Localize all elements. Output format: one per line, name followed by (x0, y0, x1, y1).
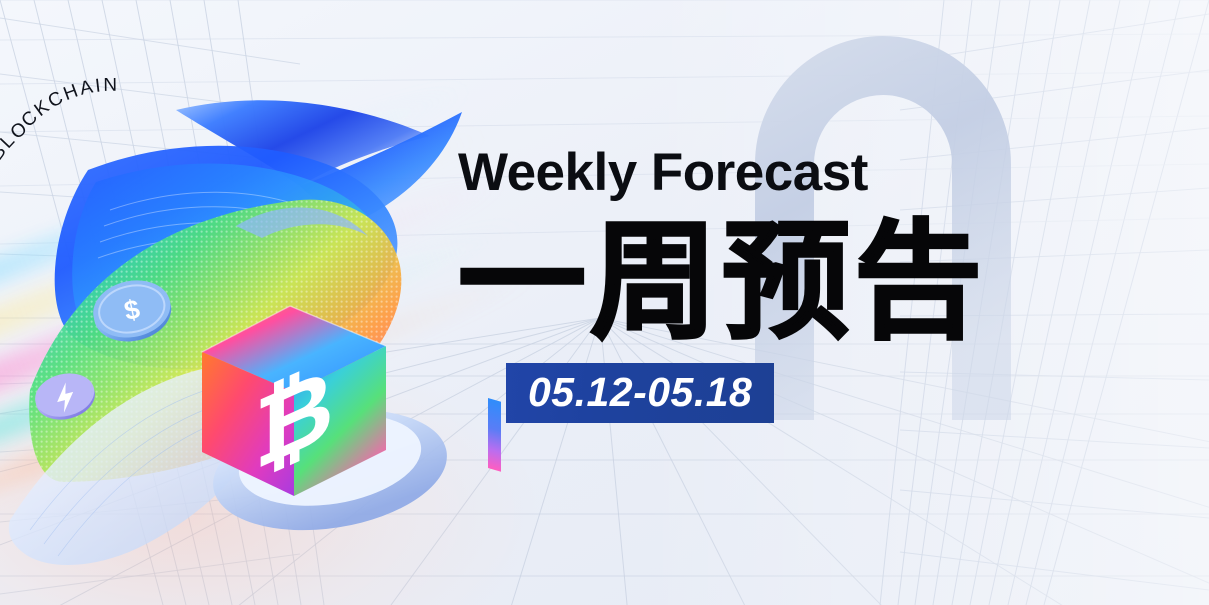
weekly-forecast-banner: $ ₿ (0, 0, 1209, 605)
fintech-blockchain-circular-text: FINTECH & BLOCKCHAIN (0, 78, 232, 328)
circular-text-label: FINTECH & BLOCKCHAIN (0, 78, 119, 290)
date-range-badge: 05.12-05.18 (506, 363, 774, 423)
eyebrow-weekly-forecast: Weekly Forecast (458, 146, 1058, 199)
badge-gradient-edge (488, 398, 501, 472)
headline-block: Weekly Forecast 一周预告 05.12-05.18 (458, 146, 1058, 423)
headline-chinese: 一周预告 (458, 219, 1058, 347)
